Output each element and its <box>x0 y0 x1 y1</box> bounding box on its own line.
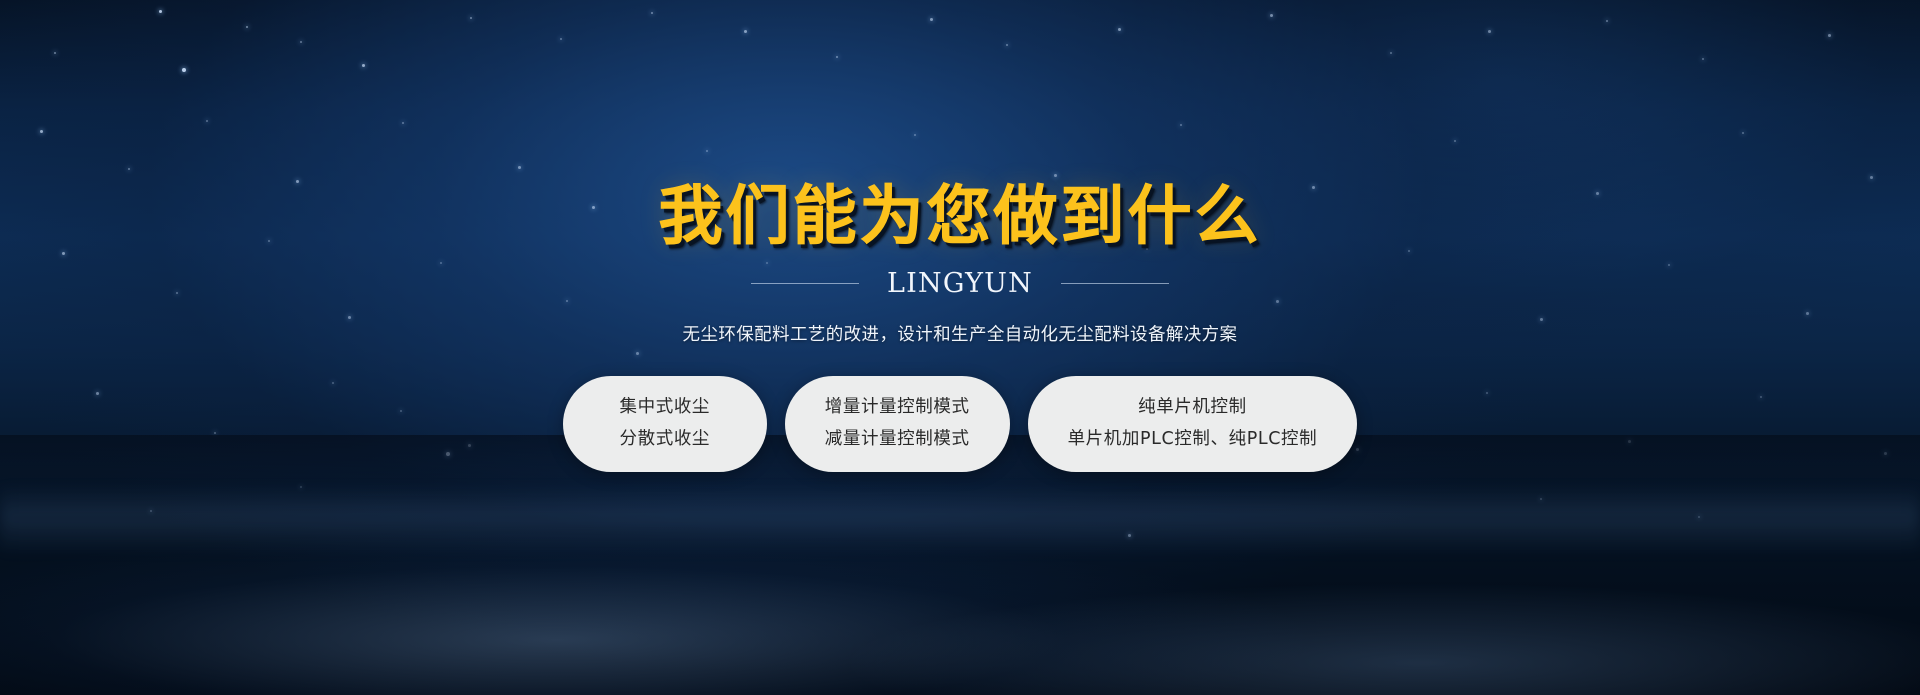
feature-pill-line: 集中式收尘 <box>620 399 711 417</box>
subtitle-divider-left <box>751 283 859 284</box>
feature-pill-group: 集中式收尘 分散式收尘 增量计量控制模式 减量计量控制模式 纯单片机控制 单片机… <box>563 376 1357 472</box>
feature-pill-line: 纯单片机控制 <box>1138 399 1247 417</box>
feature-pill[interactable]: 集中式收尘 分散式收尘 <box>563 376 767 472</box>
brand-subtitle: LINGYUN <box>887 268 1033 299</box>
feature-pill[interactable]: 纯单片机控制 单片机加PLC控制、纯PLC控制 <box>1028 376 1358 472</box>
feature-pill-line: 减量计量控制模式 <box>825 431 970 449</box>
feature-pill-line: 分散式收尘 <box>620 431 711 449</box>
hero-banner: 我们能为您做到什么 LINGYUN 无尘环保配料工艺的改进，设计和生产全自动化无… <box>0 0 1920 695</box>
subtitle-divider-right <box>1061 283 1169 284</box>
banner-description: 无尘环保配料工艺的改进，设计和生产全自动化无尘配料设备解决方案 <box>683 321 1238 346</box>
feature-pill[interactable]: 增量计量控制模式 减量计量控制模式 <box>785 376 1010 472</box>
banner-content: 我们能为您做到什么 LINGYUN 无尘环保配料工艺的改进，设计和生产全自动化无… <box>0 0 1920 695</box>
feature-pill-line: 单片机加PLC控制、纯PLC控制 <box>1068 431 1318 449</box>
feature-pill-line: 增量计量控制模式 <box>825 399 970 417</box>
subtitle-row: LINGYUN <box>751 268 1169 299</box>
page-title: 我们能为您做到什么 <box>659 182 1262 254</box>
